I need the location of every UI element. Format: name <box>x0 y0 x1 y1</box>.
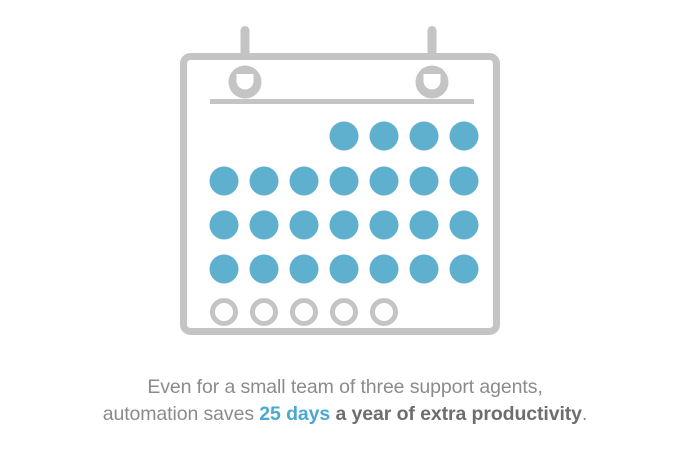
calendar-day-filled <box>370 211 399 240</box>
calendar-day-filled <box>330 167 359 196</box>
caption-highlight-days: 25 days <box>259 403 330 425</box>
calendar-day-filled <box>250 167 279 196</box>
calendar-day-filled <box>250 255 279 284</box>
calendar-day-filled <box>290 167 319 196</box>
calendar-header-divider <box>210 99 474 104</box>
caption-line-2-period: . <box>582 403 587 425</box>
caption-line-2-suffix: a year of extra productivity <box>330 403 582 425</box>
calendar-day-filled <box>410 167 439 196</box>
calendar-day-filled <box>210 255 239 284</box>
calendar-icon <box>180 24 500 336</box>
calendar-day-filled <box>410 122 439 151</box>
calendar-day-filled <box>450 211 479 240</box>
calendar-day-filled <box>450 167 479 196</box>
calendar-day-filled <box>330 211 359 240</box>
calendar-day-filled <box>410 255 439 284</box>
calendar-day-filled <box>450 122 479 151</box>
calendar-day-filled <box>210 211 239 240</box>
calendar-day-filled <box>370 122 399 151</box>
caption-line-2: automation saves 25 days a year of extra… <box>0 401 690 428</box>
calendar-day-filled <box>290 211 319 240</box>
caption-block: Even for a small team of three support a… <box>0 374 690 428</box>
calendar-day-filled <box>450 255 479 284</box>
caption-line-1: Even for a small team of three support a… <box>0 374 690 401</box>
calendar-day-filled <box>370 255 399 284</box>
caption-line-2-prefix: automation saves <box>103 403 260 425</box>
calendar-day-filled <box>250 211 279 240</box>
calendar-day-filled <box>210 167 239 196</box>
calendar-ring-left <box>229 66 262 99</box>
calendar-day-filled <box>330 255 359 284</box>
calendar-day-filled <box>370 167 399 196</box>
caption-line-1-text: Even for a small team of three support a… <box>147 376 542 398</box>
calendar-day-filled <box>330 122 359 151</box>
infographic-canvas: Even for a small team of three support a… <box>0 0 690 450</box>
calendar-day-filled <box>290 255 319 284</box>
calendar-day-filled <box>410 211 439 240</box>
calendar-ring-right <box>416 66 449 99</box>
